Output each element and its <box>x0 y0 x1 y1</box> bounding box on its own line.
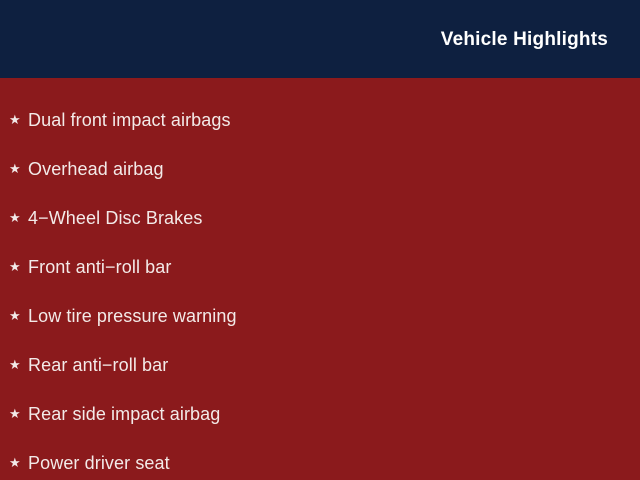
list-item: ★ Rear side impact airbag <box>0 390 640 439</box>
vehicle-highlights-list: ★ Dual front impact airbags ★ Overhead a… <box>0 96 640 480</box>
list-item-label: Front anti−roll bar <box>28 258 171 278</box>
list-item: ★ Low tire pressure warning <box>0 292 640 341</box>
star-icon: ★ <box>9 260 28 273</box>
list-item-label: Rear anti−roll bar <box>28 356 168 376</box>
star-icon: ★ <box>9 407 28 420</box>
highlights-panel: ★ Dual front impact airbags ★ Overhead a… <box>0 78 640 480</box>
list-item-label: Low tire pressure warning <box>28 307 237 327</box>
list-item: ★ Dual front impact airbags <box>0 96 640 145</box>
star-icon: ★ <box>9 456 28 469</box>
list-item: ★ Front anti−roll bar <box>0 243 640 292</box>
star-icon: ★ <box>9 211 28 224</box>
star-icon: ★ <box>9 309 28 322</box>
list-item: ★ Rear anti−roll bar <box>0 341 640 390</box>
vehicle-highlights-screen: Vehicle Highlights ★ Dual front impact a… <box>0 0 640 480</box>
list-item: ★ Power driver seat <box>0 439 640 480</box>
star-icon: ★ <box>9 358 28 371</box>
list-item-label: Rear side impact airbag <box>28 405 220 425</box>
star-icon: ★ <box>9 162 28 175</box>
list-item-label: Dual front impact airbags <box>28 111 231 131</box>
list-item: ★ Overhead airbag <box>0 145 640 194</box>
page-title: Vehicle Highlights <box>441 30 608 49</box>
list-item-label: Overhead airbag <box>28 160 164 180</box>
page-header: Vehicle Highlights <box>0 0 640 78</box>
list-item: ★ 4−Wheel Disc Brakes <box>0 194 640 243</box>
list-item-label: Power driver seat <box>28 454 170 474</box>
star-icon: ★ <box>9 113 28 126</box>
list-item-label: 4−Wheel Disc Brakes <box>28 209 202 229</box>
